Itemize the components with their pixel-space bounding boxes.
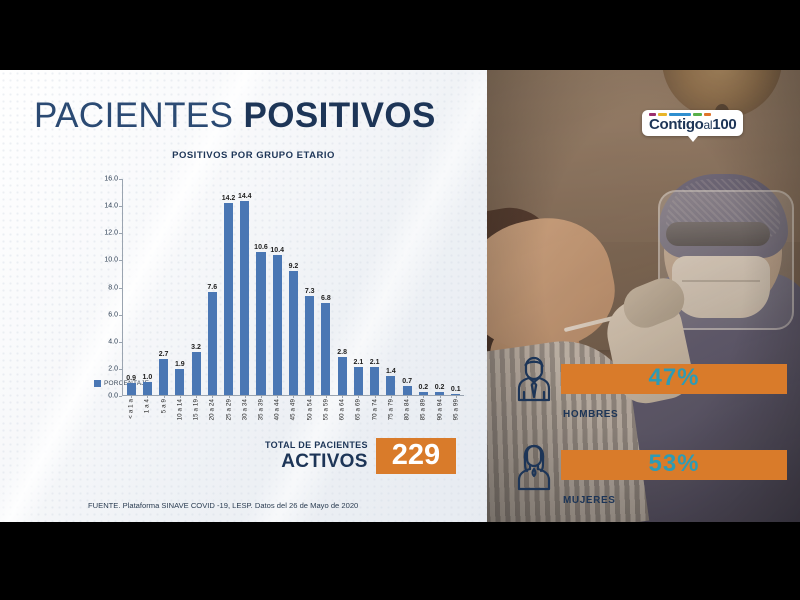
bar-column: 0.9< a 1 a (123, 179, 139, 395)
bar: 0.9 (127, 383, 136, 395)
bar-column: 14.225 a 29 (220, 179, 236, 395)
bar: 2.8 (338, 357, 347, 395)
x-axis-tick-mark (229, 395, 230, 398)
y-axis-tick-label: 0.0 (108, 393, 118, 400)
bar-column: 2.860 a 64 (334, 179, 350, 395)
bar: 10.4 (273, 255, 282, 395)
stat-mujeres: 53% MUJERES (507, 438, 787, 506)
y-axis-tick-label: 6.0 (108, 311, 118, 318)
x-axis-tick-mark (375, 395, 376, 398)
total-label-bottom: ACTIVOS (265, 452, 368, 471)
bar-column: 0.285 a 89 (415, 179, 431, 395)
stat-hombres-bar: 47% (561, 364, 787, 394)
y-axis-tick-mark (119, 288, 122, 289)
bar-value-label: 9.2 (289, 263, 299, 270)
total-label-top: TOTAL DE PACIENTES (265, 441, 368, 450)
bar: 1.4 (386, 376, 395, 395)
x-axis-tick-mark (212, 395, 213, 398)
y-axis-tick-label: 2.0 (108, 365, 118, 372)
x-axis-tick-label: < a 1 a (128, 399, 135, 419)
stat-hombres-percent: 47% (561, 366, 787, 390)
bar: 14.4 (240, 201, 249, 395)
y-axis-tick-label: 14.0 (104, 203, 118, 210)
bar: 7.6 (208, 292, 217, 395)
bar-value-label: 3.2 (191, 344, 201, 351)
x-axis-tick-label: 90 a 94 (436, 399, 443, 420)
source-note: FUENTE. Plataforma SINAVE COVID -19, LES… (88, 501, 358, 510)
logo-text-contigo: Contigo (649, 116, 704, 133)
bar-value-label: 14.2 (222, 195, 236, 202)
x-axis-tick-label: 10 a 14 (176, 399, 183, 420)
bar-value-label: 2.1 (354, 359, 364, 366)
bar-value-label: 1.9 (175, 361, 185, 368)
x-axis-tick-label: 65 a 69 (355, 399, 362, 420)
bar-column: 9.245 a 49 (285, 179, 301, 395)
bar-column: 7.350 a 54 (302, 179, 318, 395)
bar-column: 14.430 a 34 (237, 179, 253, 395)
logo-dash (704, 113, 711, 116)
x-axis-tick-label: 75 a 79 (387, 399, 394, 420)
x-axis-tick-mark (407, 395, 408, 398)
y-axis-tick-label: 10.0 (104, 257, 118, 264)
logo-text-100: 100 (712, 116, 736, 133)
bar: 1.9 (175, 369, 184, 395)
bar-value-label: 0.2 (435, 384, 445, 391)
bar: 1.0 (143, 382, 152, 396)
chart-subtitle: POSITIVOS POR GRUPO ETARIO (0, 150, 487, 161)
stat-hombres: 47% HOMBRES (507, 352, 787, 420)
bar-value-label: 7.6 (207, 284, 217, 291)
x-axis-tick-label: 80 a 84 (404, 399, 411, 420)
x-axis-tick-mark (293, 395, 294, 398)
x-axis-tick-label: 15 a 19 (193, 399, 200, 420)
x-axis-tick-label: 35 a 39 (257, 399, 264, 420)
y-axis-tick-mark (119, 179, 122, 180)
x-axis-tick-label: 20 a 24 (209, 399, 216, 420)
bar-value-label: 14.4 (238, 193, 252, 200)
x-axis-tick-mark (261, 395, 262, 398)
logo-text: Contigoal100 (649, 117, 736, 132)
logo-bubble-tail (688, 136, 698, 142)
x-axis-tick-mark (456, 395, 457, 398)
bar-value-label: 0.1 (451, 386, 461, 393)
stat-mujeres-row: 53% (507, 438, 787, 492)
bar-column: 10.440 a 44 (269, 179, 285, 395)
y-axis-tick-label: 12.0 (104, 230, 118, 237)
logo-text-al: al (704, 118, 713, 132)
x-axis-tick-label: 5 a 9 (160, 399, 167, 413)
bar-column: 3.215 a 19 (188, 179, 204, 395)
bar-column: 1.01 a 4 (139, 179, 155, 395)
y-axis-tick-label: 16.0 (104, 176, 118, 183)
contigo-al-100-logo: Contigoal100 (642, 110, 743, 142)
bar-column: 1.475 a 79 (383, 179, 399, 395)
stat-mujeres-percent: 53% (561, 452, 787, 476)
y-axis-tick-mark (119, 233, 122, 234)
slide-panel: PACIENTES POSITIVOS POSITIVOS POR GRUPO … (0, 70, 487, 522)
x-axis-tick-mark (440, 395, 441, 398)
x-axis-tick-mark (391, 395, 392, 398)
total-labels: TOTAL DE PACIENTES ACTIVOS (265, 441, 376, 471)
stat-mujeres-bar: 53% (561, 450, 787, 480)
x-axis-tick-mark (358, 395, 359, 398)
bar-value-label: 0.7 (402, 378, 412, 385)
x-axis-tick-mark (310, 395, 311, 398)
x-axis-tick-label: 40 a 44 (274, 399, 281, 420)
x-axis-tick-mark (423, 395, 424, 398)
bar-column: 2.170 a 74 (367, 179, 383, 395)
y-axis-tick-label: 8.0 (108, 284, 118, 291)
x-axis-tick-label: 25 a 29 (225, 399, 232, 420)
bar-value-label: 2.7 (159, 351, 169, 358)
x-axis-tick-mark (180, 395, 181, 398)
bar-value-label: 1.4 (386, 368, 396, 375)
bar-value-label: 1.0 (142, 374, 152, 381)
y-axis-tick-mark (119, 206, 122, 207)
x-axis-tick-mark (277, 395, 278, 398)
x-axis-tick-label: 1 a 4 (144, 399, 151, 413)
bar-column: 2.165 a 69 (350, 179, 366, 395)
page-title-light: PACIENTES (34, 96, 244, 135)
x-axis-tick-label: 95 a 99 (452, 399, 459, 420)
x-axis-tick-mark (131, 395, 132, 398)
bar-value-label: 10.4 (270, 247, 284, 254)
x-axis-tick-label: 50 a 54 (306, 399, 313, 420)
woman-icon (507, 438, 561, 492)
x-axis-tick-mark (245, 395, 246, 398)
y-axis-tick-mark (119, 342, 122, 343)
x-axis-tick-label: 55 a 59 (322, 399, 329, 420)
bar-chart: PORCENTAJE 0.02.04.06.08.010.012.014.016… (78, 165, 478, 465)
x-axis-tick-mark (196, 395, 197, 398)
page-title: PACIENTES POSITIVOS (34, 96, 436, 136)
bar: 6.8 (321, 303, 330, 395)
stat-mujeres-caption: MUJERES (507, 495, 787, 506)
legend-swatch-icon (94, 380, 101, 387)
bar: 9.2 (289, 271, 298, 395)
bar-value-label: 0.9 (126, 375, 136, 382)
page-title-bold: POSITIVOS (244, 96, 436, 135)
bar-column: 0.195 a 99 (448, 179, 464, 395)
x-axis-tick-mark (342, 395, 343, 398)
bar-value-label: 2.8 (337, 349, 347, 356)
stat-hombres-row: 47% (507, 352, 787, 406)
x-axis-tick-label: 30 a 34 (241, 399, 248, 420)
stat-hombres-caption: HOMBRES (507, 409, 787, 420)
x-axis-tick-mark (147, 395, 148, 398)
bar-value-label: 6.8 (321, 295, 331, 302)
bar-column: 1.910 a 14 (172, 179, 188, 395)
bar: 7.3 (305, 296, 314, 395)
x-axis-tick-label: 85 a 89 (420, 399, 427, 420)
x-axis-tick-mark (326, 395, 327, 398)
bar: 3.2 (192, 352, 201, 395)
bar-value-label: 10.6 (254, 244, 268, 251)
chart-bars: 0.9< a 1 a1.01 a 42.75 a 91.910 a 143.21… (123, 179, 464, 395)
total-value-badge: 229 (376, 438, 456, 474)
man-icon (507, 352, 561, 406)
bar: 10.6 (256, 252, 265, 395)
bar-column: 0.780 a 84 (399, 179, 415, 395)
y-axis-tick-label: 4.0 (108, 338, 118, 345)
bar: 2.7 (159, 359, 168, 395)
bar-column: 7.620 a 24 (204, 179, 220, 395)
y-axis-tick-mark (119, 369, 122, 370)
x-axis-tick-mark (164, 395, 165, 398)
bar: 0.7 (403, 386, 412, 395)
bar: 2.1 (370, 367, 379, 395)
bar: 2.1 (354, 367, 363, 395)
bar-column: 10.635 a 39 (253, 179, 269, 395)
bar-value-label: 7.3 (305, 288, 315, 295)
bar-column: 6.855 a 59 (318, 179, 334, 395)
screenshot-stage: PACIENTES POSITIVOS POSITIVOS POR GRUPO … (0, 0, 800, 600)
x-axis-tick-label: 60 a 64 (339, 399, 346, 420)
x-axis-tick-label: 45 a 49 (290, 399, 297, 420)
photo-panel: Contigoal100 47% (487, 70, 800, 522)
bar-value-label: 2.1 (370, 359, 380, 366)
y-axis-tick-mark (119, 260, 122, 261)
bar: 14.2 (224, 203, 233, 395)
y-axis-tick-mark (119, 396, 122, 397)
y-axis-tick-mark (119, 315, 122, 316)
total-patients-block: TOTAL DE PACIENTES ACTIVOS 229 (265, 438, 456, 474)
logo-bubble: Contigoal100 (642, 110, 743, 136)
bar-value-label: 0.2 (418, 384, 428, 391)
chart-plot-area: 0.02.04.06.08.010.012.014.016.0 0.9< a 1… (122, 179, 464, 396)
x-axis-tick-label: 70 a 74 (371, 399, 378, 420)
bar-column: 2.75 a 9 (155, 179, 171, 395)
bar-column: 0.290 a 94 (431, 179, 447, 395)
